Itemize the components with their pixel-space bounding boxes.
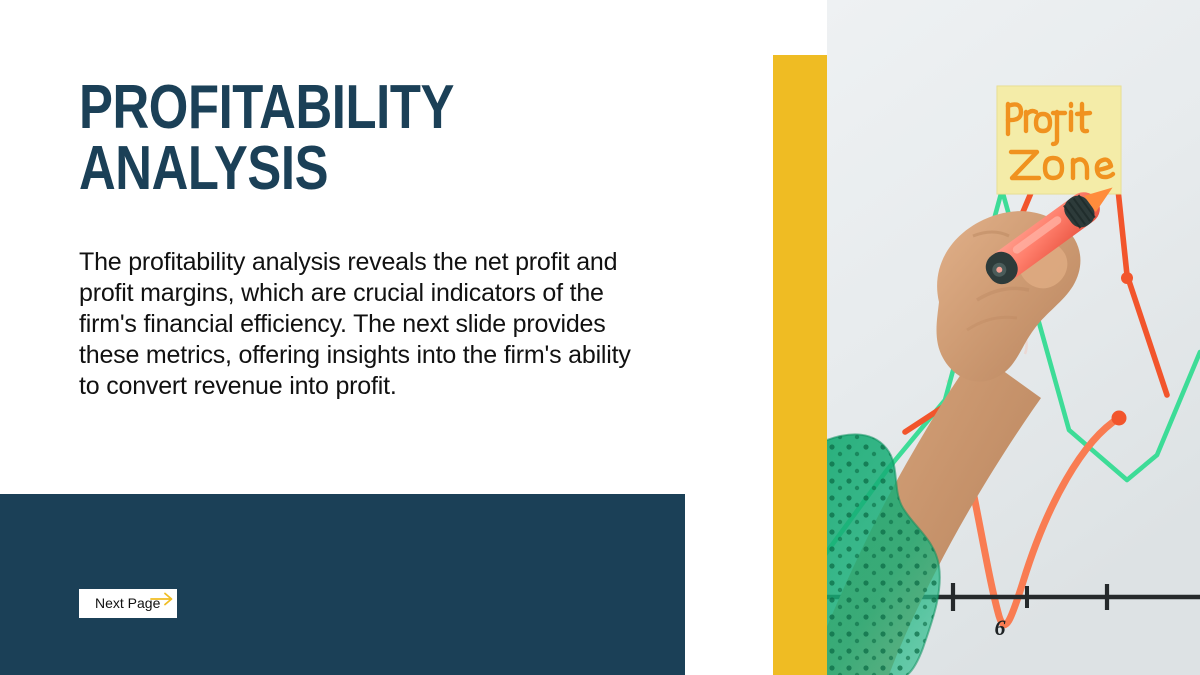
footer-panel bbox=[0, 494, 685, 675]
axis-tick-label-6: 6 bbox=[995, 615, 1006, 640]
slide: PROFITABILITY ANALYSIS The profitability… bbox=[0, 0, 1200, 675]
orange-data-point bbox=[1121, 272, 1133, 284]
page-title: PROFITABILITY ANALYSIS bbox=[79, 78, 587, 200]
page-title-line-1: PROFITABILITY bbox=[79, 78, 587, 139]
whiteboard-photo: 6 bbox=[827, 0, 1200, 675]
whiteboard-illustration: 6 bbox=[827, 0, 1200, 675]
body-paragraph: The profitability analysis reveals the n… bbox=[79, 247, 631, 402]
arrow-right-icon[interactable] bbox=[150, 591, 176, 607]
yellow-accent-bar bbox=[773, 55, 827, 675]
sticky-note bbox=[997, 86, 1121, 194]
page-title-line-2: ANALYSIS bbox=[79, 139, 587, 200]
